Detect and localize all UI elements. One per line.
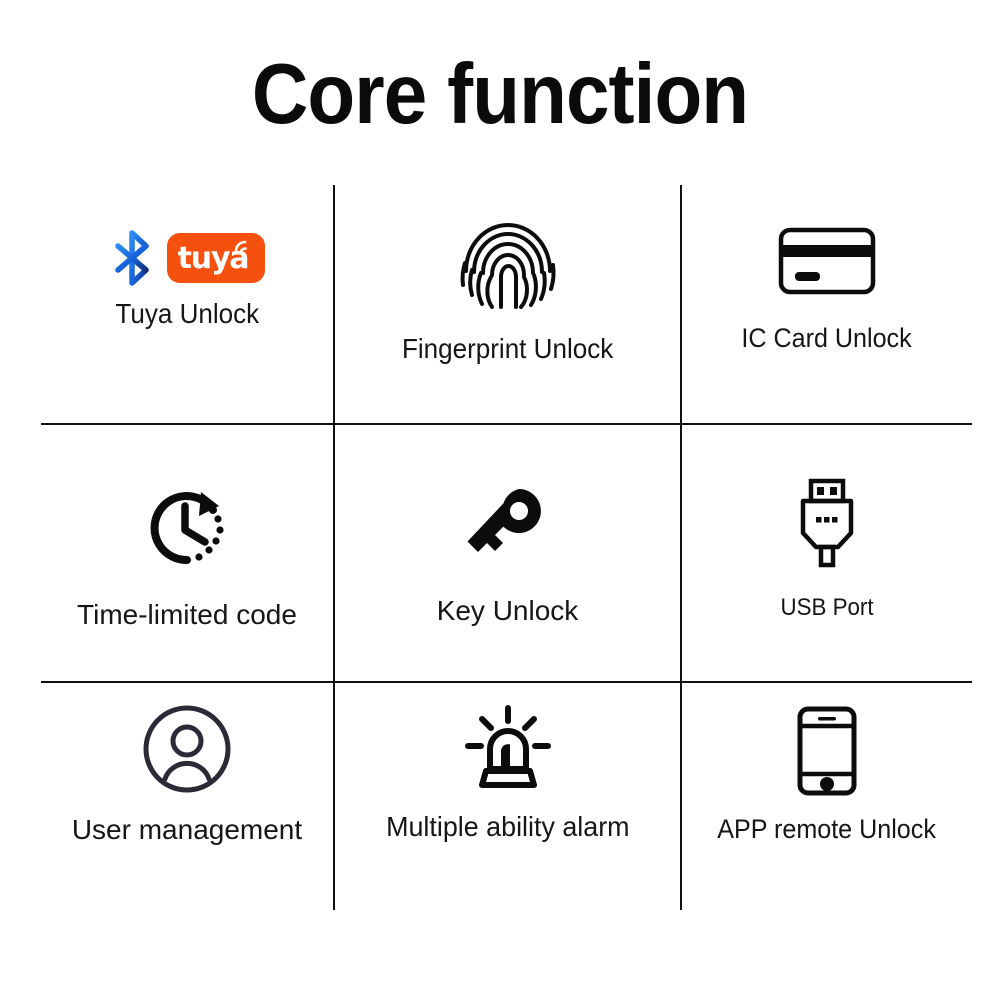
smartphone-icon: [796, 705, 858, 797]
key-icon: [462, 481, 554, 573]
feature-label-time-limited-code: Time-limited code: [77, 599, 297, 631]
fingerprint-icon: [456, 215, 560, 311]
feature-cell-key-unlock: Key Unlock: [335, 425, 680, 681]
fingerprint-icon-group: [456, 215, 560, 311]
feature-cell-ic-card: IC Card Unlock: [682, 185, 972, 423]
clock-icon-group: [139, 482, 235, 574]
feature-label-app-remote: APP remote Unlock: [718, 814, 937, 845]
ic-card-icon: [778, 227, 876, 295]
alarm-icon-group: [462, 705, 554, 791]
siren-alarm-icon: [462, 705, 554, 791]
usb-icon-group: [792, 477, 862, 569]
bluetooth-icon: [110, 230, 156, 286]
page-title: Core function: [40, 52, 960, 137]
feature-cell-user-management: User management: [41, 683, 333, 910]
feature-cell-fingerprint: Fingerprint Unlock: [335, 185, 680, 423]
feature-label-usb-port: USB Port: [780, 594, 873, 622]
feature-cell-usb-port: USB Port: [682, 425, 972, 681]
clock-arrow-icon: [139, 482, 235, 574]
user-circle-icon: [141, 703, 233, 795]
tuya-logo: tuya: [167, 233, 265, 283]
feature-cell-time-limited-code: Time-limited code: [41, 425, 333, 681]
feature-cell-app-remote: APP remote Unlock: [682, 683, 972, 910]
feature-label-alarm: Multiple ability alarm: [386, 811, 629, 843]
feature-label-fingerprint: Fingerprint Unlock: [402, 333, 613, 365]
feature-label-key-unlock: Key Unlock: [437, 595, 579, 627]
key-icon-group: [462, 481, 554, 573]
smartphone-icon-group: [796, 705, 858, 797]
user-icon-group: [141, 703, 233, 795]
feature-cell-alarm: Multiple ability alarm: [335, 683, 680, 910]
feature-label-ic-card: IC Card Unlock: [742, 323, 912, 354]
usb-plug-icon: [792, 477, 862, 569]
core-function-poster: Core function: [0, 0, 1000, 1000]
feature-cell-tuya-unlock: tuya Tuya Unlock: [41, 185, 333, 423]
tuya-unlock-icon-group: tuya: [110, 230, 265, 286]
wifi-arc-icon: [232, 238, 258, 260]
feature-grid: tuya Tuya Unlock: [41, 185, 972, 910]
feature-label-user-management: User management: [72, 814, 302, 846]
ic-card-icon-group: [778, 227, 876, 295]
feature-label-tuya-unlock: Tuya Unlock: [115, 298, 259, 330]
